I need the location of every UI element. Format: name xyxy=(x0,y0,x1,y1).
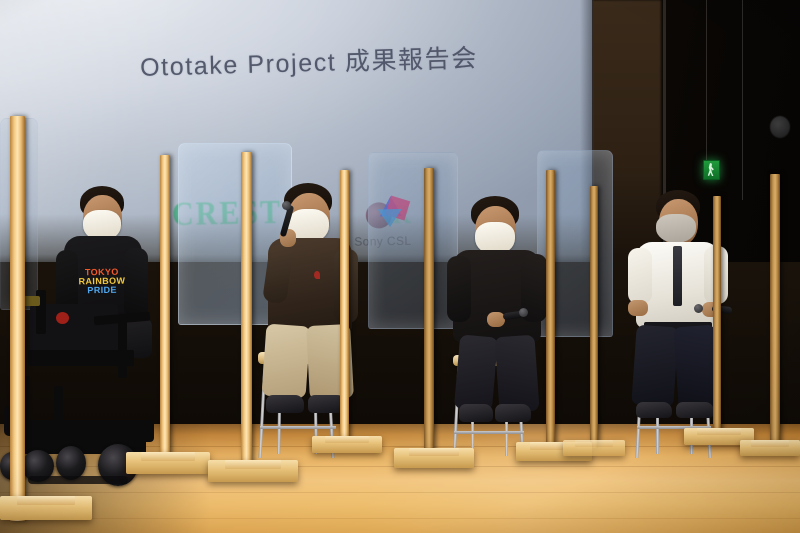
wooden-post xyxy=(770,174,780,446)
ceiling-speaker xyxy=(770,116,790,138)
post-base xyxy=(563,440,625,456)
left-leg xyxy=(631,325,678,408)
panelist-2 xyxy=(258,183,366,413)
running-man-icon xyxy=(707,163,715,176)
post-base xyxy=(0,496,92,520)
post-base xyxy=(312,436,382,453)
wooden-post xyxy=(590,186,598,448)
necktie xyxy=(673,246,682,306)
right-shoe xyxy=(495,404,531,422)
microphone-head xyxy=(282,201,291,210)
left-shoe xyxy=(459,404,493,422)
acrylic-partition xyxy=(368,152,458,329)
wooden-post xyxy=(546,170,555,452)
post-base xyxy=(208,460,298,482)
microphone-head xyxy=(694,304,703,313)
wooden-post xyxy=(241,152,252,472)
left-arm xyxy=(447,256,471,322)
right-shoe xyxy=(676,402,714,418)
face-mask xyxy=(656,214,696,243)
left-arm xyxy=(628,248,652,304)
post-base xyxy=(394,448,474,468)
left-shoe xyxy=(266,395,304,413)
panelist-3 xyxy=(447,196,551,418)
microphone-head xyxy=(519,308,528,317)
wooden-post xyxy=(160,155,170,465)
post-base xyxy=(740,440,800,456)
stage-scene-photo: Ototake Project 成果報告会 CREST R Sony CSL xyxy=(0,0,800,533)
right-leg xyxy=(494,335,539,414)
wooden-post xyxy=(340,170,349,445)
wooden-post xyxy=(424,168,434,460)
rigging-wire xyxy=(706,0,707,160)
left-shoe xyxy=(636,402,672,418)
wheel xyxy=(56,446,86,480)
rigging-wire xyxy=(742,0,743,200)
shirt-logo xyxy=(314,271,320,279)
post-base xyxy=(126,452,210,474)
hand xyxy=(628,300,648,316)
wooden-post xyxy=(713,196,721,434)
left-leg xyxy=(262,324,311,399)
left-leg xyxy=(454,334,498,411)
wooden-post xyxy=(10,116,25,521)
exit-sign xyxy=(703,160,720,180)
